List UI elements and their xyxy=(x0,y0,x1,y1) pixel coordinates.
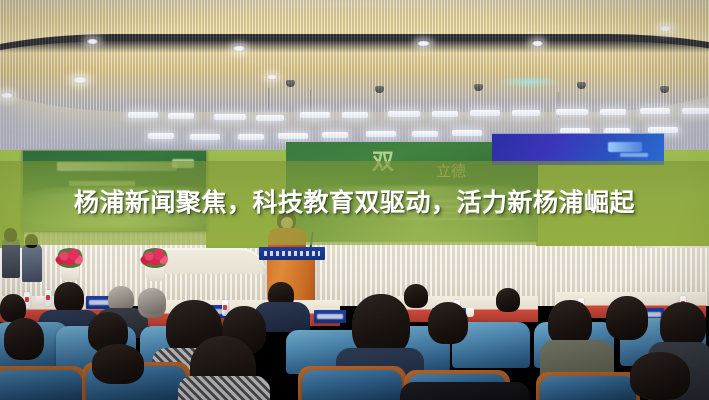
panel-light xyxy=(640,108,670,114)
panel-light xyxy=(278,133,308,139)
panel-light xyxy=(452,130,482,136)
ceiling-speaker-icon xyxy=(474,84,483,91)
panel-light xyxy=(470,110,500,116)
person-head xyxy=(606,296,648,340)
ceiling-speaker-icon xyxy=(660,86,669,93)
ceiling-speaker-icon xyxy=(286,80,295,87)
flower-arrangement xyxy=(55,248,85,268)
screen-logo-subtext xyxy=(620,153,648,157)
water-bottle xyxy=(45,290,51,306)
downlight-icon xyxy=(416,40,431,47)
panel-light xyxy=(128,112,158,118)
panel-light xyxy=(682,108,709,114)
ceiling-speaker-icon xyxy=(375,86,384,93)
person-head xyxy=(92,344,144,384)
ceiling-wire xyxy=(558,92,559,118)
panel-light xyxy=(432,111,458,117)
auditorium-chair xyxy=(0,370,82,400)
cove-light-band xyxy=(0,0,709,112)
standing-person xyxy=(22,244,42,282)
downlight-icon xyxy=(266,74,278,80)
panel-light xyxy=(366,131,396,137)
flower-arrangement xyxy=(140,248,170,268)
person-head xyxy=(428,302,468,344)
headline-overlay-band: 杨浦新闻聚焦，科技教育双驱动，活力新杨浦崛起 xyxy=(0,161,709,245)
panel-light xyxy=(556,109,588,115)
panel-light xyxy=(600,109,626,115)
person-head xyxy=(496,288,520,312)
downlight-icon xyxy=(0,92,14,99)
auditorium-chair xyxy=(540,376,636,400)
downlight-icon xyxy=(659,25,672,32)
downlight-icon xyxy=(531,40,544,47)
downlight-icon xyxy=(72,76,88,84)
panel-light xyxy=(214,114,246,120)
headline-text: 杨浦新闻聚焦，科技教育双驱动，活力新杨浦崛起 xyxy=(35,188,675,219)
podium-sign xyxy=(259,247,325,260)
table-nameplate xyxy=(314,310,346,323)
panel-light xyxy=(300,112,330,118)
panel-light xyxy=(388,111,420,117)
panel-light xyxy=(168,113,194,119)
ceiling-wire xyxy=(268,88,269,110)
panel-light xyxy=(412,131,438,137)
person-head xyxy=(138,288,166,314)
panel-light xyxy=(238,134,264,140)
person-head xyxy=(404,284,428,308)
downlight-icon xyxy=(232,45,246,52)
person-shoulders xyxy=(400,382,530,400)
person-head xyxy=(4,318,44,360)
ceiling-speaker-icon xyxy=(577,82,586,89)
panel-light xyxy=(190,134,220,140)
downlight-icon xyxy=(86,38,99,45)
news-photo-card: 双 立德 xyxy=(0,0,709,400)
person-head xyxy=(352,294,410,356)
panel-light xyxy=(512,110,540,116)
screen-logo xyxy=(608,142,642,152)
person-head xyxy=(630,352,690,400)
ceiling-upper-plane xyxy=(0,0,709,40)
panel-light xyxy=(322,132,348,138)
auditorium-chair xyxy=(302,370,402,400)
ceiling-wire xyxy=(310,90,311,118)
person-shoulders xyxy=(178,376,270,400)
paper-cup xyxy=(36,296,44,305)
panel-light xyxy=(256,115,284,121)
panel-light xyxy=(148,133,174,139)
soffit-glow-spot xyxy=(496,76,562,88)
panel-light xyxy=(342,112,368,118)
